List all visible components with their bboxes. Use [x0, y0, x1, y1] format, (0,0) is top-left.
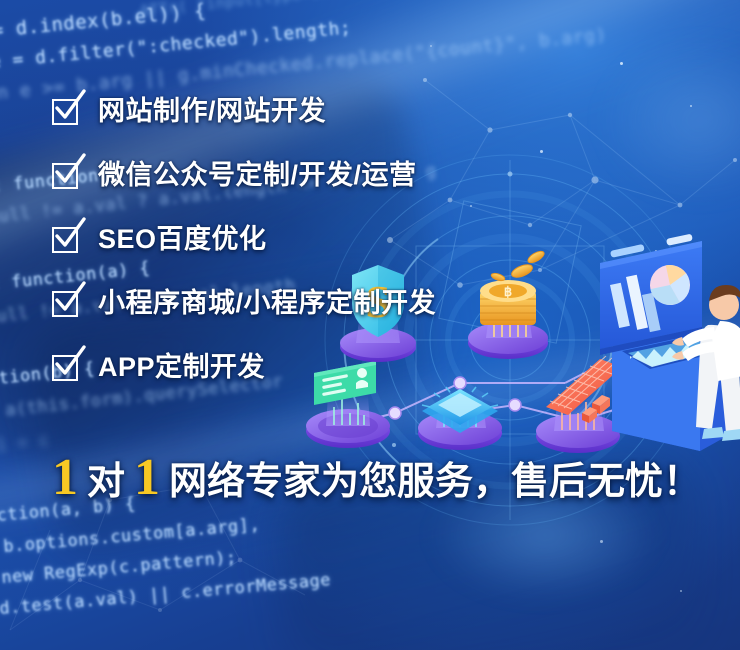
coin-stack-icon: ฿ — [468, 249, 548, 359]
sparkle-dot — [470, 205, 472, 207]
checkbox-checked-icon — [52, 160, 82, 190]
id-card-icon — [306, 361, 390, 448]
sparkle-dot — [690, 105, 692, 107]
sparkle-dot — [540, 150, 543, 153]
promo-banner: ATTr( "input[type=checkbox]" ) + b.clear… — [0, 0, 740, 650]
checklist-item-label: 网站制作/网站开发 — [98, 98, 326, 125]
checkbox-checked-icon — [52, 96, 82, 126]
checklist-item-label: 小程序商城/小程序定制开发 — [98, 290, 436, 317]
checklist-item-1[interactable]: 网站制作/网站开发 — [52, 96, 326, 126]
checklist-item-4[interactable]: 小程序商城/小程序定制开发 — [52, 288, 436, 318]
checklist-item-label: SEO百度优化 — [98, 226, 267, 253]
checkbox-checked-icon — [52, 352, 82, 382]
sparkle-dot — [620, 62, 623, 65]
checkbox-checked-icon — [52, 224, 82, 254]
sparkle-dot — [600, 540, 603, 543]
slogan: 1 对 1 网络专家为您服务，售后无忧！ — [52, 452, 701, 504]
slogan-tail-text: 网络专家为您服务，售后无忧！ — [169, 463, 701, 501]
checklist-item-label: 微信公众号定制/开发/运营 — [98, 162, 417, 189]
slogan-number-first: 1 — [52, 452, 78, 504]
server-grid-icon — [536, 356, 622, 453]
checklist-item-5[interactable]: APP定制开发 — [52, 352, 265, 382]
sparkle-dot — [430, 45, 432, 47]
slogan-mid-char: 对 — [87, 463, 125, 501]
slogan-number-second: 1 — [134, 452, 160, 504]
checklist-item-2[interactable]: 微信公众号定制/开发/运营 — [52, 160, 417, 190]
checkbox-checked-icon — [52, 288, 82, 318]
sparkle-dot — [680, 590, 682, 592]
svg-text:฿: ฿ — [504, 284, 512, 299]
checklist-item-label: APP定制开发 — [98, 354, 265, 381]
checklist-item-3[interactable]: SEO百度优化 — [52, 224, 267, 254]
network-mesh-bottom-left — [0, 380, 310, 650]
